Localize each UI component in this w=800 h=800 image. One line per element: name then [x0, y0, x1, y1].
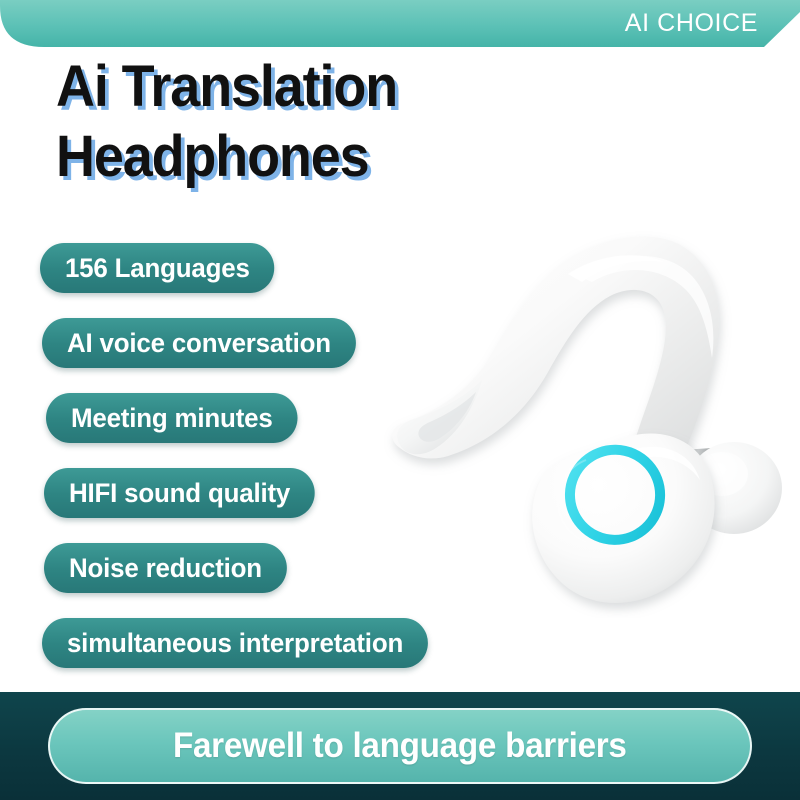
feature-row: AI voice conversation	[0, 318, 620, 393]
feature-row: Meeting minutes	[0, 393, 620, 468]
feature-pill-simultaneous-interpretation[interactable]: simultaneous interpretation	[42, 618, 428, 668]
feature-row: HIFI sound quality	[0, 468, 620, 543]
feature-pill-noise-reduction[interactable]: Noise reduction	[44, 543, 287, 593]
headline-line-2: Headphones	[56, 122, 577, 192]
feature-row: Noise reduction	[0, 543, 620, 618]
footer-cta-pill[interactable]: Farewell to language barriers	[48, 708, 752, 784]
ear-tip	[682, 442, 782, 534]
feature-row: 156 Languages	[0, 243, 620, 318]
feature-list: 156 Languages AI voice conversation Meet…	[0, 243, 620, 693]
feature-pill-languages[interactable]: 156 Languages	[40, 243, 275, 293]
feature-pill-hifi-sound-quality[interactable]: HIFI sound quality	[44, 468, 315, 518]
headline-line-1: Ai Translation	[56, 52, 577, 122]
product-ad-poster: AI CHOICE Ai Translation Headphones	[0, 0, 800, 800]
feature-row: simultaneous interpretation	[0, 618, 620, 693]
feature-pill-ai-voice-conversation[interactable]: AI voice conversation	[42, 318, 356, 368]
footer-banner: Farewell to language barriers	[0, 692, 800, 800]
banner-label: AI CHOICE	[625, 8, 758, 38]
top-banner: AI CHOICE	[0, 0, 800, 48]
footer-cta-label: Farewell to language barriers	[173, 726, 627, 766]
feature-pill-meeting-minutes[interactable]: Meeting minutes	[46, 393, 298, 443]
page-title: Ai Translation Headphones	[56, 52, 577, 192]
